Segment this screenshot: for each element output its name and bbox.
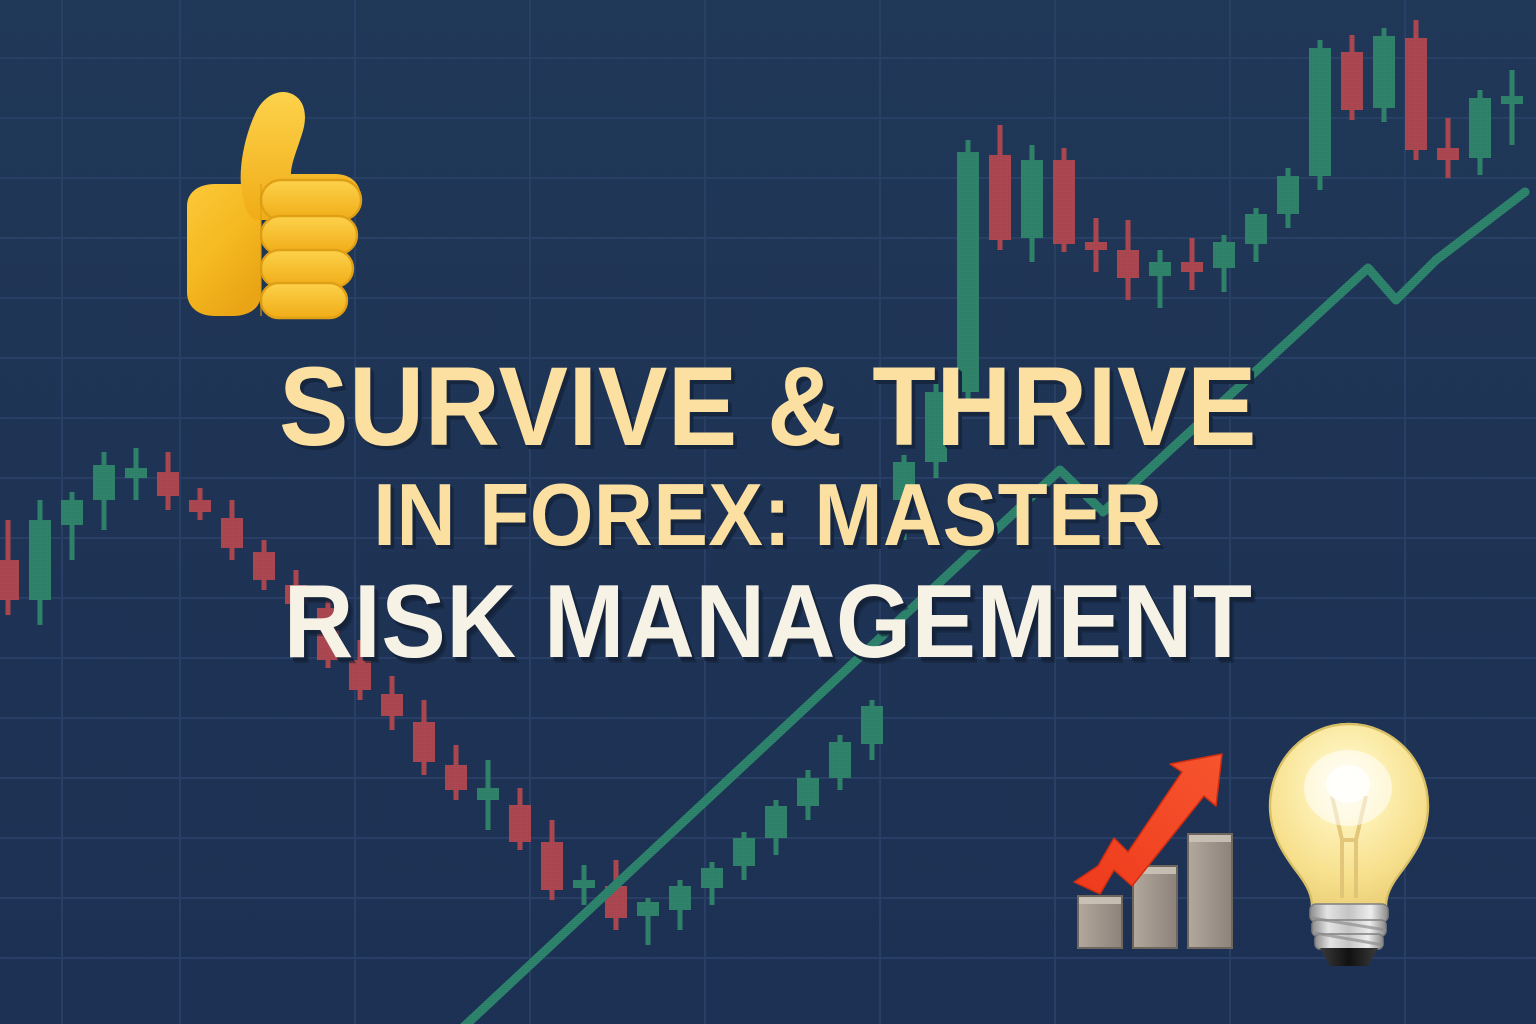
candlestick-chart-background xyxy=(0,0,1536,1024)
poster-canvas: SURVIVE & THRIVE IN FOREX: MASTER RISK M… xyxy=(0,0,1536,1024)
